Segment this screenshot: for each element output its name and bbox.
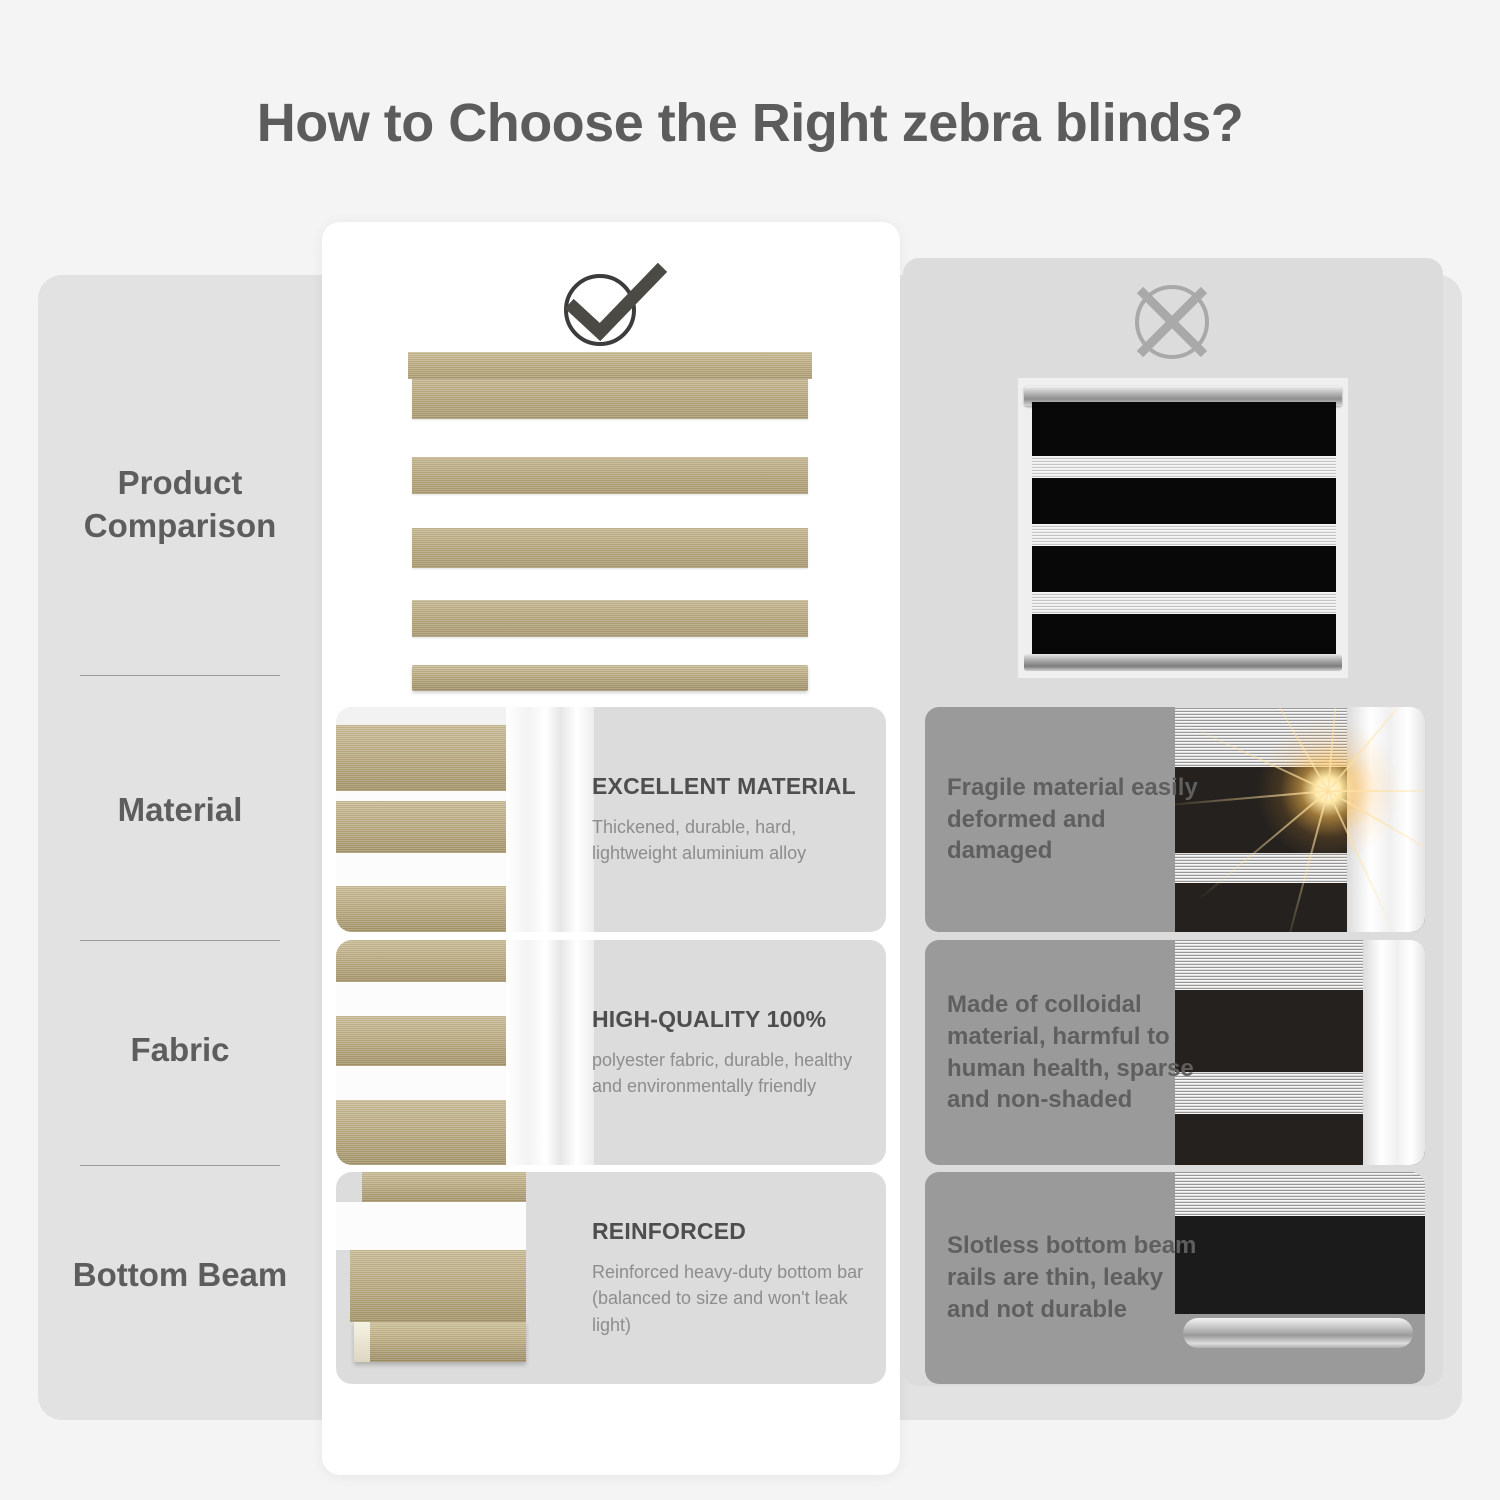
blind-bottom-bar <box>412 665 808 691</box>
feature-body: Reinforced heavy-duty bottom bar (balanc… <box>592 1259 882 1337</box>
feature-heading: REINFORCED <box>592 1218 882 1245</box>
row-label-rail: Product Comparison Material Fabric Botto… <box>38 275 322 1420</box>
row-divider-2 <box>80 940 280 941</box>
feature-text-bad-bottom-beam: Slotless bottom beam rails are thin, lea… <box>947 1172 1207 1384</box>
feature-text-bad-fabric: Made of colloidal material, harmful to h… <box>947 940 1207 1165</box>
blind-sheer-band-3 <box>1032 592 1336 614</box>
page-title: How to Choose the Right zebra blinds? <box>0 92 1500 154</box>
blind-sheer-band-2 <box>1032 524 1336 546</box>
feature-heading: HIGH-QUALITY 100% <box>592 1006 882 1033</box>
feature-text-good-material: EXCELLENT MATERIAL Thickened, durable, h… <box>592 707 882 932</box>
feature-card-bad-fabric: Made of colloidal material, harmful to h… <box>925 940 1425 1165</box>
blind-band-2 <box>412 457 808 494</box>
row-label-product-comparison: Product Comparison <box>38 445 322 565</box>
feature-card-bad-material: Fragile material easily deformed and dam… <box>925 707 1425 932</box>
row-divider-3 <box>80 1165 280 1166</box>
blind-dark-band-1 <box>1032 402 1336 456</box>
feature-heading: EXCELLENT MATERIAL <box>592 773 882 800</box>
feature-card-bad-bottom-beam: Slotless bottom beam rails are thin, lea… <box>925 1172 1425 1384</box>
beige-blind-aluminium-headrail-closeup <box>336 707 594 932</box>
beige-blind-polyester-fabric-closeup <box>336 940 594 1165</box>
row-divider-1 <box>80 675 280 676</box>
feature-body: Thickened, durable, hard, lightweight al… <box>592 814 882 866</box>
feature-card-good-bottom-beam: REINFORCED Reinforced heavy-duty bottom … <box>336 1172 886 1384</box>
cross-circle-icon <box>1122 276 1222 368</box>
black-zebra-blind-image <box>1018 378 1348 678</box>
row-label-fabric: Fabric <box>38 1005 322 1095</box>
blind-dark-band-4 <box>1032 614 1336 654</box>
feature-card-good-fabric: HIGH-QUALITY 100% polyester fabric, dura… <box>336 940 886 1165</box>
light-leaking-through-deformed-blind <box>1175 707 1425 932</box>
blind-dark-band-2 <box>1032 478 1336 524</box>
feature-card-good-material: EXCELLENT MATERIAL Thickened, durable, h… <box>336 707 886 932</box>
check-circle-icon <box>552 258 672 358</box>
beige-zebra-blind-image <box>408 352 812 697</box>
thin-slotless-bottom-rail-closeup <box>1175 1172 1425 1384</box>
row-label-bottom-beam: Bottom Beam <box>38 1215 322 1335</box>
row-label-material: Material <box>38 765 322 855</box>
blind-bottom-bar <box>1024 654 1342 671</box>
beige-blind-reinforced-bottom-bar-closeup <box>336 1172 594 1384</box>
blind-sheer-band-1 <box>1032 456 1336 478</box>
sun-flare-icon <box>1253 715 1403 865</box>
blind-band-3 <box>412 528 808 568</box>
blind-headrail <box>408 352 812 379</box>
sparse-colloidal-fabric-closeup <box>1175 940 1425 1165</box>
blind-band-1 <box>412 379 808 419</box>
feature-text-good-fabric: HIGH-QUALITY 100% polyester fabric, dura… <box>592 940 882 1165</box>
feature-text-good-bottom-beam: REINFORCED Reinforced heavy-duty bottom … <box>592 1172 882 1384</box>
blind-band-4 <box>412 600 808 637</box>
feature-body: polyester fabric, durable, healthy and e… <box>592 1047 882 1099</box>
blind-dark-band-3 <box>1032 546 1336 592</box>
feature-text-bad-material: Fragile material easily deformed and dam… <box>947 707 1207 932</box>
